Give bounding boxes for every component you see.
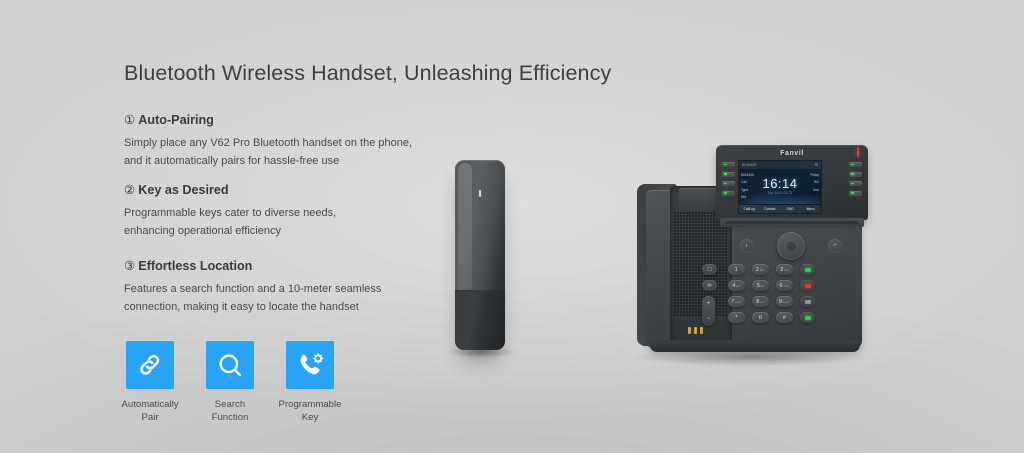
key-digit: 1 [735,267,738,273]
key-letters: def [784,268,789,272]
keypad-row: * 0 # [728,312,856,323]
key-digit: 8 [756,299,759,305]
brand-logo: Fanvil [780,150,804,157]
headset-key[interactable] [800,264,815,275]
feature-body-line: Features a search function and a 10-mete… [124,281,454,299]
feature-body: Features a search function and a 10-mete… [124,281,454,316]
key-letters: pqrs [735,300,742,304]
feature-title: ①Auto-Pairing [124,112,454,128]
left-function-key[interactable]: ◐ [740,239,754,253]
key-digit: 4 [732,283,735,289]
phone-hinge-strip [720,218,864,227]
benefit-programmable-key: Programmable Key [286,341,334,424]
key-digit: 9 [779,299,782,305]
lcd-date: Tue 2024-05-21 [739,191,821,195]
phone-lcd-screen: 8015420 ☰ 8015420 Call Type DM Policy BG… [738,160,822,214]
bluetooth-handset-product-image [455,160,505,350]
message-key[interactable]: ✉ [702,280,717,291]
volume-rocker[interactable]: + − [702,296,715,326]
caption-line: Programmable [279,398,342,411]
line-keys-right[interactable] [849,162,862,196]
key-letters: jkl [761,284,764,288]
phone-screen-housing: Fanvil 8015420 ☰ [716,145,868,220]
softkey-label[interactable]: CallLog [739,207,760,211]
lcd-softkey-bar: CallLog Contact DND Menu [739,205,821,213]
key-letters: ghi [736,284,741,288]
right-function-key[interactable]: ↶ [828,239,842,253]
line-key[interactable] [722,172,735,177]
desk-phone-product-image: Fanvil 8015420 ☰ [632,140,872,365]
feature-title-text: Auto-Pairing [138,113,214,127]
keypad-key[interactable]: 1 [728,264,745,275]
softkey-label[interactable]: Contact [760,207,781,211]
keypad-key[interactable]: * [728,312,745,323]
line-key[interactable] [722,162,735,167]
contacts-key[interactable]: ☐ [702,264,717,275]
benefit-automatically-pair: Automatically Pair [126,341,174,424]
feature-body-line: Programmable keys cater to diverse needs… [124,205,454,223]
line-keys-left[interactable] [722,162,735,196]
keypad-row: 4ghi 5jkl 6mno [728,280,856,291]
keypad-key[interactable]: 3def [776,264,793,275]
line-key[interactable] [849,162,862,167]
caption-line: Function [212,411,249,424]
feature-block-effortless-location: ③Effortless Location Features a search f… [124,258,454,316]
softkey-label[interactable]: DND [780,207,801,211]
key-digit: 7 [731,299,734,305]
keypad-key[interactable]: 4ghi [728,280,745,291]
feature-title: ③Effortless Location [124,258,454,274]
ok-button[interactable] [785,240,797,252]
key-digit: 3 [780,267,783,273]
feature-body-line: Simply place any V62 Pro Bluetooth hands… [124,135,454,153]
key-letters: mno [783,284,789,288]
page-title: Bluetooth Wireless Handset, Unleashing E… [124,61,611,86]
handset-led-indicator [479,190,481,197]
transfer-key[interactable] [800,296,815,307]
handset-bottom-band [455,290,505,350]
line-key[interactable] [722,181,735,186]
keypad-key[interactable]: 0 [752,312,769,323]
caption-line: Automatically [121,398,178,411]
navigation-cluster[interactable]: ◐ ↶ [736,232,846,262]
key-digit: 0 [759,315,762,321]
line-key[interactable] [849,172,862,177]
feature-number: ② [124,183,135,197]
key-letters: tuv [760,300,765,304]
feature-block-key-as-desired: ②Key as Desired Programmable keys cater … [124,182,454,240]
phone-base-foot [650,340,860,352]
volume-up-label[interactable]: + [707,301,711,307]
volume-down-label[interactable]: − [707,316,711,322]
feature-title-text: Effortless Location [138,259,252,273]
lcd-clock: 16:14 [739,177,821,190]
feature-body: Programmable keys cater to diverse needs… [124,205,454,240]
phone-gear-icon [286,341,334,389]
caption-line: Search [212,398,249,411]
benefit-search-function: Search Function [206,341,254,424]
hold-key[interactable] [800,280,815,291]
left-function-keys[interactable]: ☐ ✉ + − [702,264,722,326]
phone-keypad[interactable]: 1 2abc 3def 4ghi 5jkl 6mno 7pqrs 8tuv 9w… [728,264,856,328]
feature-body: Simply place any V62 Pro Bluetooth hands… [124,135,454,170]
feature-number: ③ [124,259,135,273]
keypad-key[interactable]: 7pqrs [728,296,745,307]
key-digit: * [735,315,737,321]
lcd-account-label: 8015420 [742,163,757,167]
slide-canvas: Bluetooth Wireless Handset, Unleashing E… [0,0,1024,453]
benefit-caption: Search Function [212,398,249,424]
lcd-line-label: DM [741,194,773,201]
key-letters: wxyz [783,300,790,304]
keypad-key[interactable]: 6mno [776,280,793,291]
feature-title-text: Key as Desired [138,183,228,197]
link-chain-icon [126,341,174,389]
feature-body-line: and it automatically pairs for hassle-fr… [124,153,454,171]
line-key[interactable] [849,181,862,186]
key-letters: abc [760,268,765,272]
softkey-label[interactable]: Menu [801,207,822,211]
keypad-row: 7pqrs 8tuv 9wxyz [728,296,856,307]
speaker-key[interactable] [800,312,815,323]
charging-contacts [688,327,703,334]
caption-line: Pair [121,411,178,424]
key-digit: # [783,315,786,321]
keypad-key[interactable]: # [776,312,793,323]
key-digit: 2 [756,267,759,273]
keypad-key[interactable]: 2abc [752,264,769,275]
feature-body-line: enhancing operational efficiency [124,223,454,241]
line-key[interactable] [849,191,862,196]
keypad-key[interactable]: 5jkl [752,280,769,291]
feature-number: ① [124,113,135,127]
benefit-caption: Programmable Key [279,398,342,424]
keypad-row: 1 2abc 3def [728,264,856,275]
benefit-icon-row: Automatically Pair Search Function [126,341,334,424]
feature-body-line: connection, making it easy to locate the… [124,299,454,317]
key-digit: 5 [757,283,760,289]
benefit-caption: Automatically Pair [121,398,178,424]
nav-ring[interactable] [777,232,805,260]
key-digit: 6 [779,283,782,289]
caption-line: Key [279,411,342,424]
feature-title: ②Key as Desired [124,182,454,198]
feature-block-auto-pairing: ①Auto-Pairing Simply place any V62 Pro B… [124,112,454,170]
keypad-key[interactable]: 9wxyz [776,296,793,307]
magnifier-icon [206,341,254,389]
signal-icon: ☰ [815,163,818,167]
keypad-key[interactable]: 8tuv [752,296,769,307]
lcd-status-bar: 8015420 ☰ [739,161,821,169]
line-key[interactable] [722,191,735,196]
message-waiting-led [857,147,859,157]
